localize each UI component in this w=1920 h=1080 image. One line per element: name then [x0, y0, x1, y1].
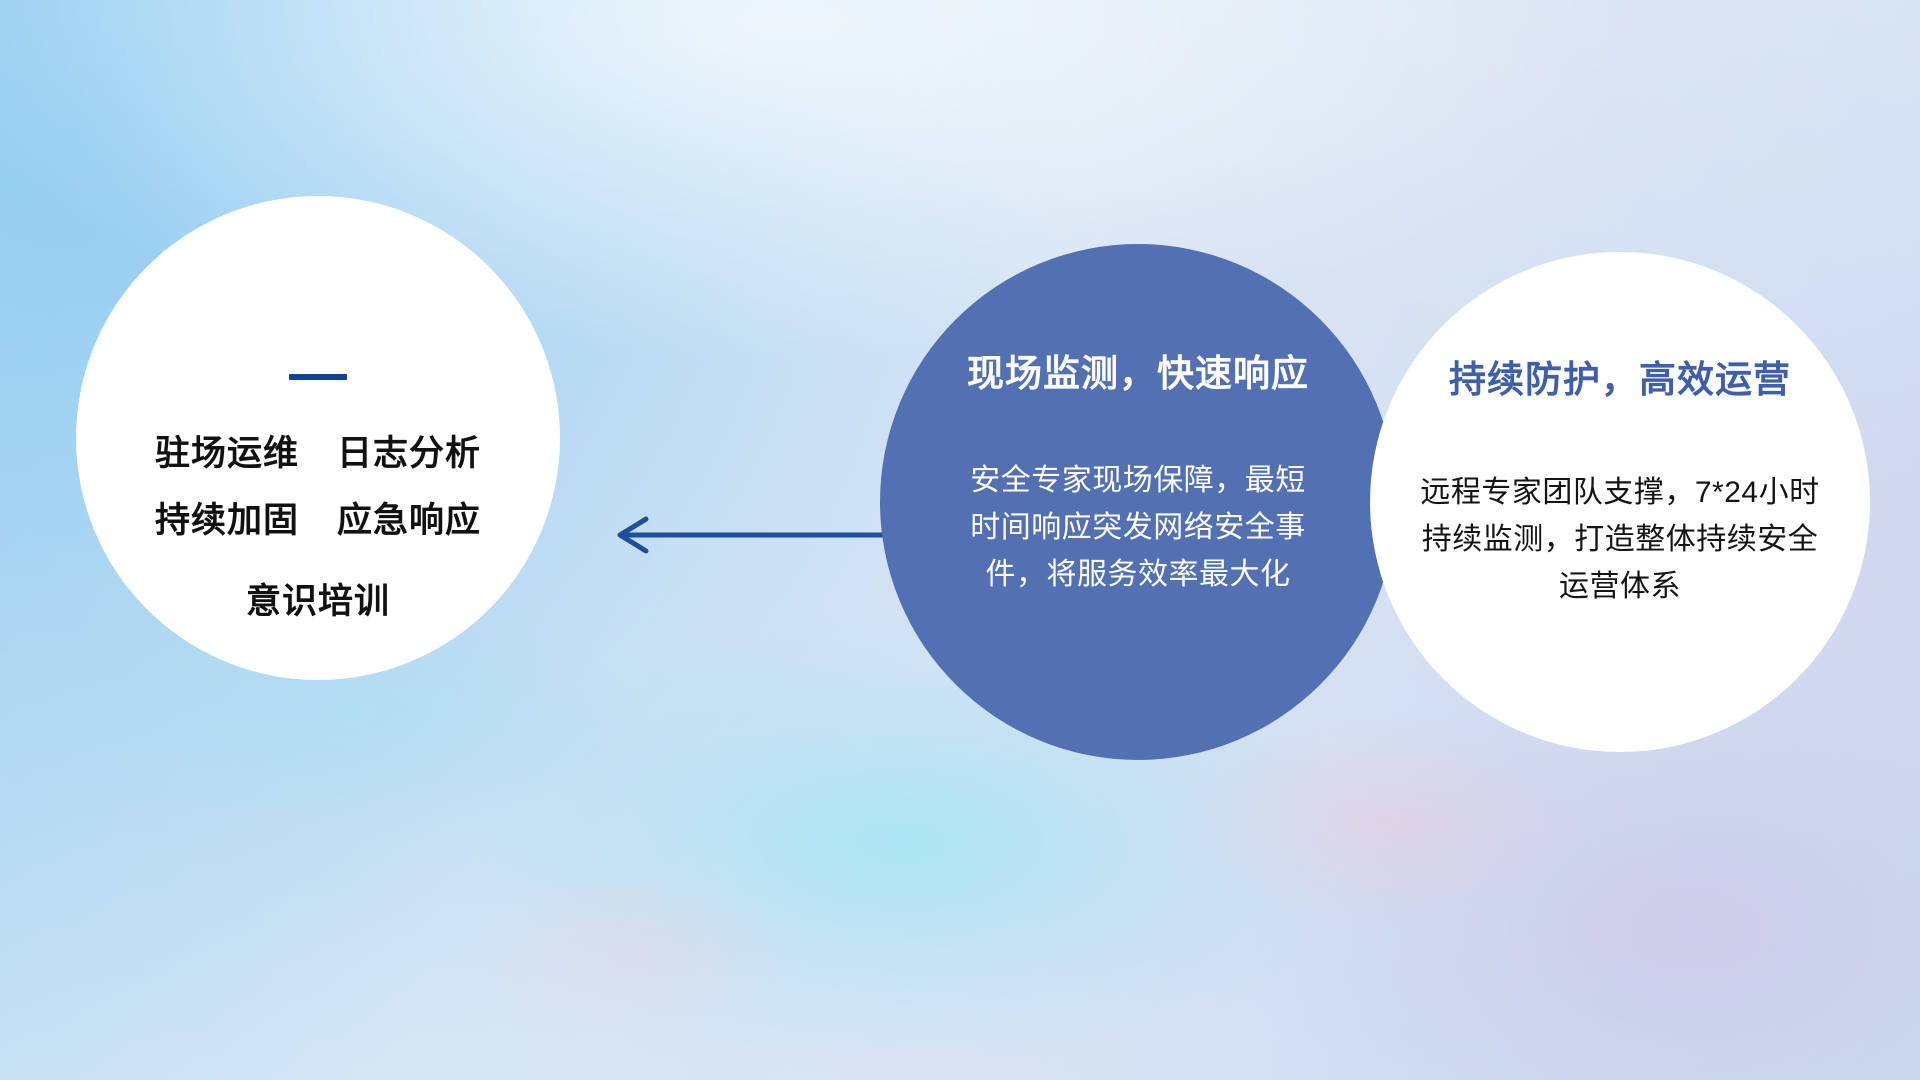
onsite-monitoring-title: 现场监测，快速响应: [967, 354, 1309, 395]
capability-keywords-circle[interactable]: 驻场运维 日志分析 持续加固 应急响应 意识培训: [76, 196, 560, 680]
keyword-item: 应急响应: [337, 503, 481, 538]
continuous-protection-title: 持续防护，高效运营: [1449, 360, 1791, 401]
continuous-protection-content: 持续防护，高效运营 远程专家团队支撑，7*24小时持续监测，打造整体持续安全运营…: [1370, 252, 1870, 752]
continuous-protection-body: 远程专家团队支撑，7*24小时持续监测，打造整体持续安全运营体系: [1410, 469, 1830, 611]
leftward-arrow: [600, 505, 910, 565]
keyword-item: 日志分析: [337, 436, 481, 471]
onsite-monitoring-circle[interactable]: 现场监测，快速响应 安全专家现场保障，最短时间响应突发网络安全事件，将服务效率最…: [880, 244, 1396, 760]
title-divider-rule: [289, 374, 347, 380]
keyword-item: 意识培训: [246, 584, 390, 619]
keyword-row: 意识培训: [246, 584, 390, 619]
onsite-monitoring-body: 安全专家现场保障，最短时间响应突发网络安全事件，将服务效率最大化: [958, 457, 1318, 599]
continuous-protection-circle[interactable]: 持续防护，高效运营 远程专家团队支撑，7*24小时持续监测，打造整体持续安全运营…: [1370, 252, 1870, 752]
onsite-monitoring-content: 现场监测，快速响应 安全专家现场保障，最短时间响应突发网络安全事件，将服务效率最…: [880, 244, 1396, 760]
keyword-row: 持续加固 应急响应: [155, 503, 481, 538]
keyword-row: 驻场运维 日志分析: [155, 436, 481, 471]
capability-keywords-content: 驻场运维 日志分析 持续加固 应急响应 意识培训: [76, 196, 560, 680]
keyword-item: 持续加固: [155, 503, 299, 538]
keyword-item: 驻场运维: [155, 436, 299, 471]
slide-canvas: 驻场运维 日志分析 持续加固 应急响应 意识培训 现场监测，快速响应 安全专家现…: [0, 0, 1920, 1080]
